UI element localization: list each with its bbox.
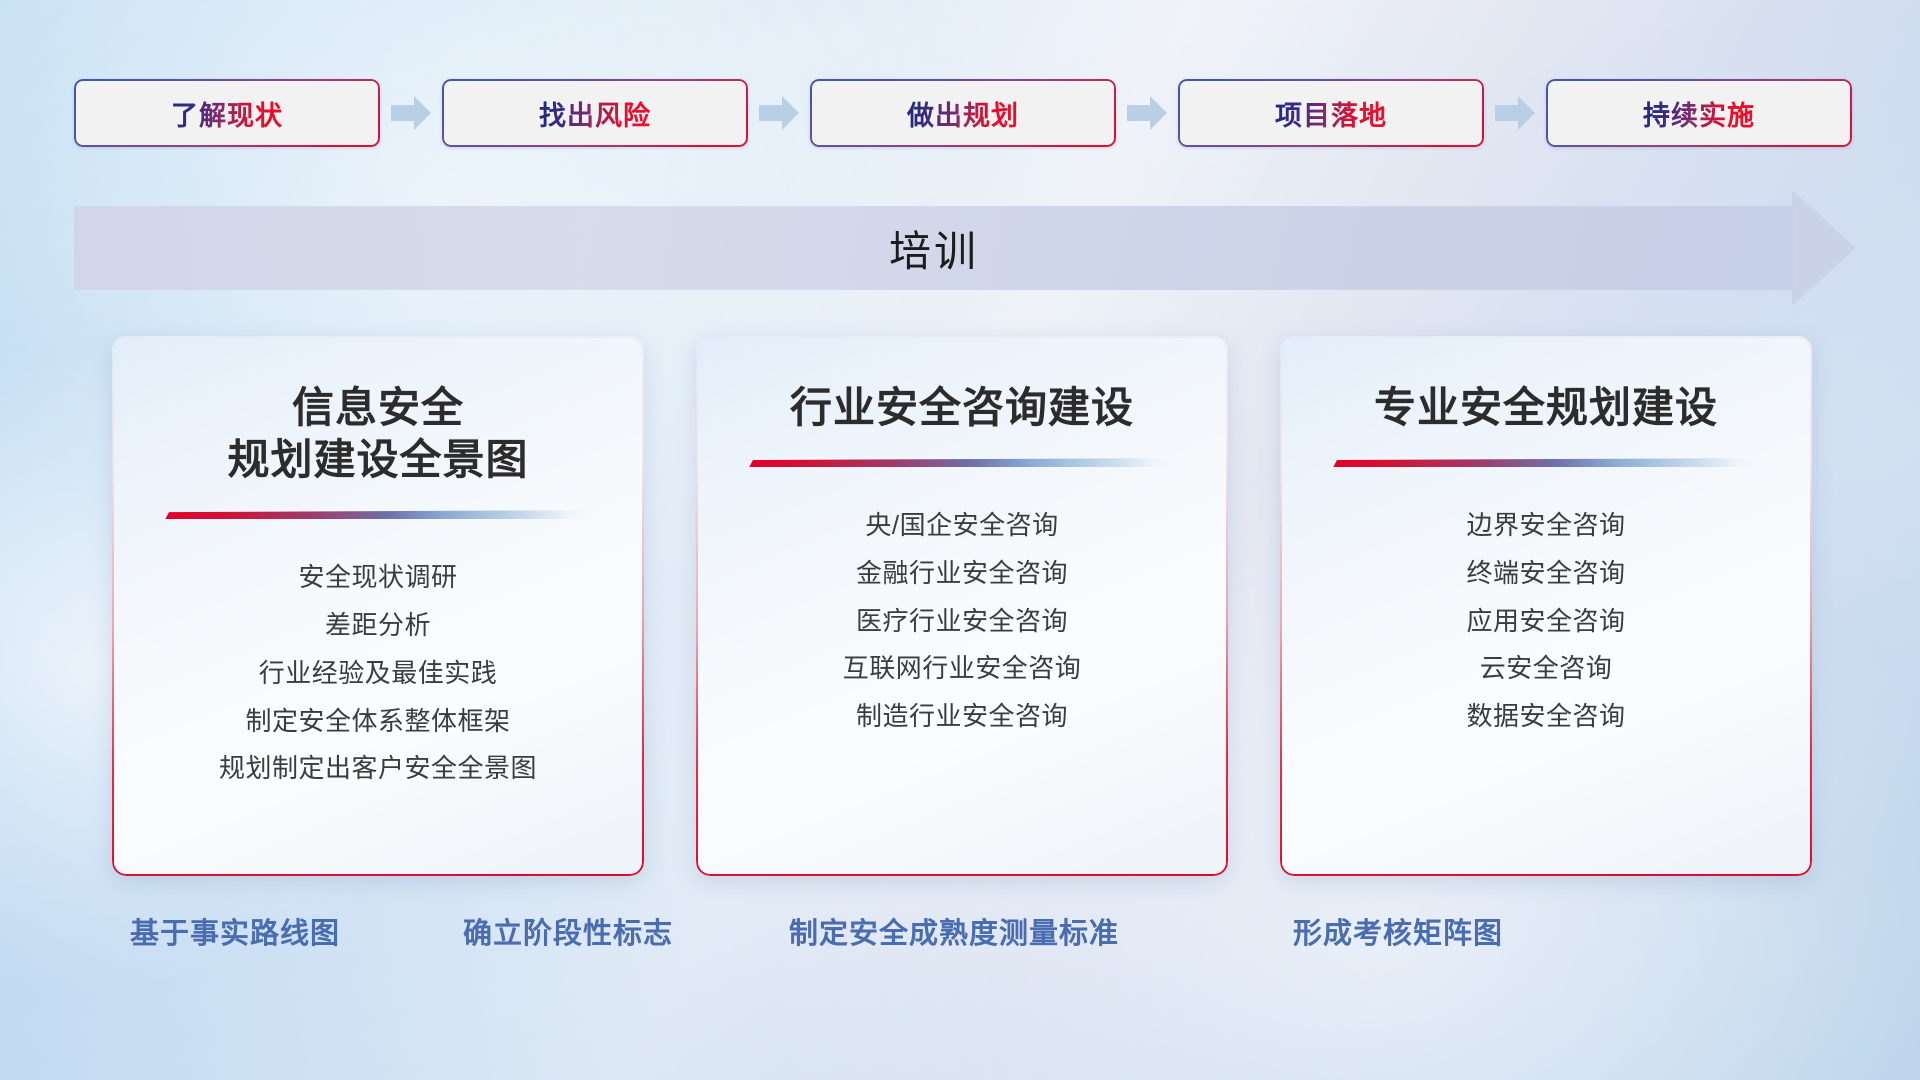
list-item: 制定安全体系整体框架	[245, 705, 510, 739]
list-item: 云安全咨询	[1480, 652, 1613, 686]
card-divider	[165, 510, 591, 519]
list-item: 数据安全咨询	[1466, 700, 1625, 734]
card-divider	[749, 458, 1175, 467]
step-label-3: 做出规划	[907, 94, 1019, 133]
card-divider	[1333, 458, 1759, 467]
list-item: 金融行业安全咨询	[856, 557, 1068, 591]
card-info-security-blueprint[interactable]: 信息安全 规划建设全景图 安全现状调研 差距分析 行业经验及最佳实践 制定安全体…	[112, 336, 644, 876]
caption-maturity-scale: 制定安全成熟度测量标准	[789, 910, 1119, 952]
card-industry-security-consulting[interactable]: 行业安全咨询建设 央/国企安全咨询 金融行业安全咨询 医疗行业安全咨询 互联网行…	[696, 336, 1228, 876]
list-item: 安全现状调研	[298, 561, 457, 595]
arrow-right-icon	[748, 96, 810, 130]
step-box-3[interactable]: 做出规划	[810, 79, 1116, 147]
arrow-right-icon	[1116, 96, 1178, 130]
list-item: 终端安全咨询	[1466, 557, 1625, 591]
step-label-5: 持续实施	[1643, 94, 1755, 133]
step-label-4: 项目落地	[1275, 94, 1387, 133]
process-steps-row: 了解现状 找出风险 做出规划 项目落地 持续实施	[74, 78, 1854, 148]
list-item: 边界安全咨询	[1466, 509, 1625, 543]
step-label-2: 找出风险	[539, 94, 651, 133]
step-box-5[interactable]: 持续实施	[1546, 79, 1852, 147]
card-item-list: 安全现状调研 差距分析 行业经验及最佳实践 制定安全体系整体框架 规划制定出客户…	[112, 561, 644, 786]
card-title: 行业安全咨询建设	[768, 382, 1156, 434]
arrow-right-icon	[1484, 96, 1546, 130]
cards-row: 信息安全 规划建设全景图 安全现状调研 差距分析 行业经验及最佳实践 制定安全体…	[112, 336, 1812, 876]
list-item: 医疗行业安全咨询	[856, 605, 1068, 639]
bottom-captions: 基于事实路线图 确立阶段性标志 制定安全成熟度测量标准 形成考核矩阵图	[0, 910, 1920, 964]
list-item: 央/国企安全咨询	[865, 509, 1058, 543]
list-item: 制造行业安全咨询	[856, 700, 1068, 734]
card-professional-security-planning[interactable]: 专业安全规划建设 边界安全咨询 终端安全咨询 应用安全咨询 云安全咨询 数据安全…	[1280, 336, 1812, 876]
arrow-right-icon	[380, 96, 442, 130]
card-title: 专业安全规划建设	[1352, 382, 1740, 434]
list-item: 应用安全咨询	[1466, 605, 1625, 639]
card-item-list: 边界安全咨询 终端安全咨询 应用安全咨询 云安全咨询 数据安全咨询	[1280, 509, 1812, 734]
step-box-1[interactable]: 了解现状	[74, 79, 380, 147]
caption-scoring-matrix: 形成考核矩阵图	[1293, 910, 1503, 952]
training-banner: 培训	[74, 206, 1856, 290]
list-item: 规划制定出客户安全全景图	[219, 752, 537, 786]
list-item: 互联网行业安全咨询	[843, 652, 1082, 686]
caption-milestones: 确立阶段性标志	[463, 910, 673, 952]
list-item: 差距分析	[325, 609, 431, 643]
card-item-list: 央/国企安全咨询 金融行业安全咨询 医疗行业安全咨询 互联网行业安全咨询 制造行…	[696, 509, 1228, 734]
step-box-2[interactable]: 找出风险	[442, 79, 748, 147]
list-item: 行业经验及最佳实践	[259, 657, 498, 691]
step-box-4[interactable]: 项目落地	[1178, 79, 1484, 147]
caption-roadmap: 基于事实路线图	[130, 910, 340, 952]
step-label-1: 了解现状	[171, 94, 283, 133]
banner-arrow-tip-icon	[1792, 190, 1856, 306]
card-title: 信息安全 规划建设全景图	[205, 382, 550, 486]
banner-title: 培训	[74, 206, 1794, 290]
